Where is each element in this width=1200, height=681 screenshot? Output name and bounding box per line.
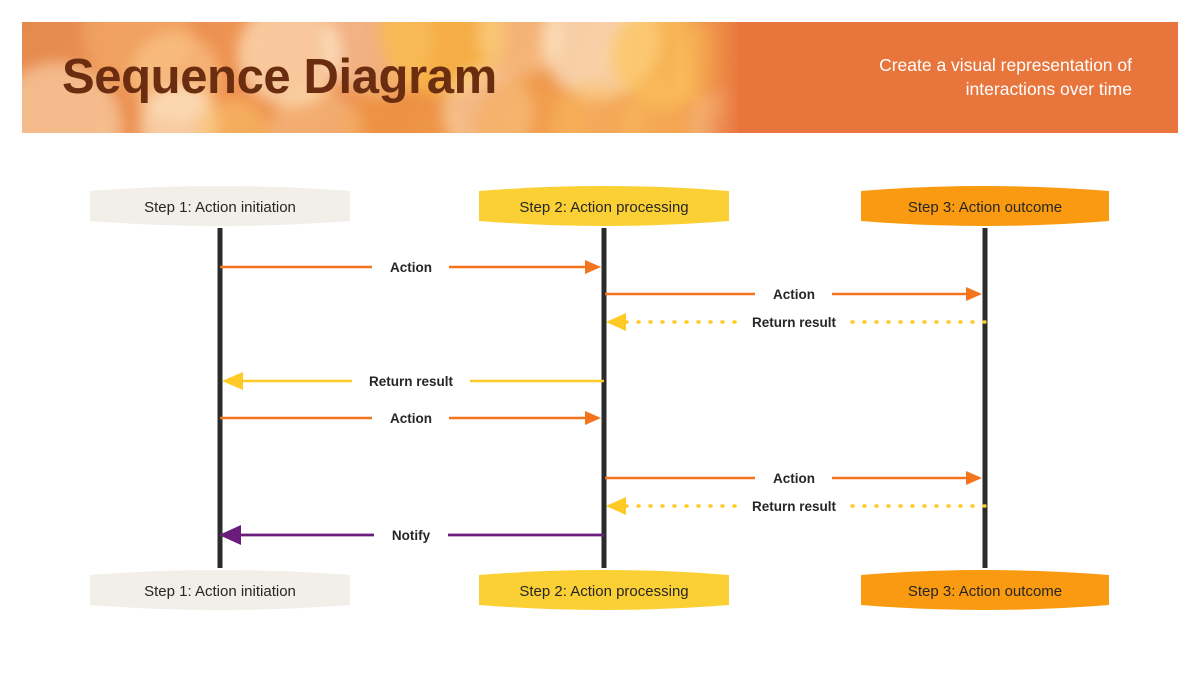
actor-box-bottom-step-3[interactable]: Step 3: Action outcome [861, 570, 1109, 610]
message-action-2[interactable]: Action [605, 287, 982, 302]
message-action-4[interactable]: Action [605, 471, 982, 486]
actor-box-top-step-2-label: Step 2: Action processing [519, 199, 688, 216]
actor-box-top-step-3[interactable]: Step 3: Action outcome [861, 186, 1109, 226]
message-action-4-label: Action [773, 471, 815, 486]
message-return-result-3-label: Return result [752, 499, 837, 514]
actor-box-top-step-1-label: Step 1: Action initiation [144, 199, 296, 216]
message-action-2-label: Action [773, 287, 815, 302]
header-subtitle: Create a visual representation of intera… [802, 53, 1132, 103]
message-return-result-1-label: Return result [752, 315, 837, 330]
message-return-result-2[interactable]: Return result [222, 372, 604, 390]
message-return-result-3[interactable]: Return result [606, 497, 985, 515]
actor-box-bottom-step-2[interactable]: Step 2: Action processing [479, 570, 729, 610]
header-subtitle-line-1: Create a visual representation of [879, 55, 1132, 75]
actor-box-top-step-1[interactable]: Step 1: Action initiation [90, 186, 350, 226]
lifeline-bar-step-1 [218, 228, 223, 568]
header-subtitle-line-2: interactions over time [966, 80, 1132, 100]
message-return-result-1[interactable]: Return result [606, 313, 985, 331]
lifeline-bars [218, 228, 988, 568]
actor-box-bottom-step-1-label: Step 1: Action initiation [144, 583, 296, 600]
lifeline-bar-step-3 [983, 228, 988, 568]
message-return-result-2-label: Return result [369, 374, 454, 389]
message-action-1[interactable]: Action [220, 260, 601, 275]
message-action-3-label: Action [390, 411, 432, 426]
actor-box-bottom-step-2-label: Step 2: Action processing [519, 583, 688, 600]
actor-box-bottom-step-1[interactable]: Step 1: Action initiation [90, 570, 350, 610]
message-action-3[interactable]: Action [220, 411, 601, 426]
message-notify-label: Notify [392, 528, 431, 543]
actor-box-top-step-2[interactable]: Step 2: Action processing [479, 186, 729, 226]
message-action-1-label: Action [390, 260, 432, 275]
lifeline-bar-step-2 [602, 228, 607, 568]
actor-box-bottom-step-3-label: Step 3: Action outcome [908, 583, 1062, 600]
actor-box-top-step-3-label: Step 3: Action outcome [908, 199, 1062, 216]
message-notify[interactable]: Notify [219, 525, 604, 545]
page-title: Sequence Diagram [62, 48, 497, 104]
